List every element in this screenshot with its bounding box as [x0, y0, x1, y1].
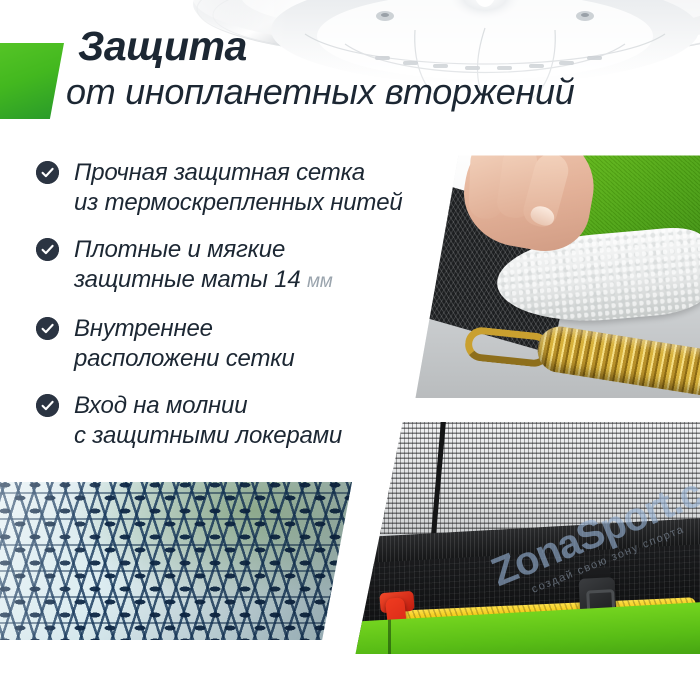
upper-mesh-panel: [352, 422, 700, 534]
accent-block: [0, 43, 64, 119]
zipper-entry-photo: [352, 422, 700, 654]
list-item: Прочная защитная сетка из термоскрепленн…: [36, 158, 436, 218]
list-item-label: Внутреннее расположени сетки: [74, 314, 436, 374]
page-title-line-2: от инопланетных вторжений: [66, 71, 678, 113]
check-circle-icon: [36, 394, 59, 417]
feature-list: Прочная защитная сетка из термоскрепленн…: [36, 158, 436, 451]
list-item-label: Плотные и мягкие защитные маты 14 мм: [74, 235, 436, 297]
page-title-line-1: Защита: [78, 24, 678, 68]
list-item: Плотные и мягкие защитные маты 14 мм: [36, 235, 436, 297]
photo-shading: [0, 482, 352, 640]
promo-banner: Защита от инопланетных вторжений Прочная…: [0, 0, 700, 700]
check-circle-icon: [36, 161, 59, 184]
list-item: Внутреннее расположени сетки: [36, 314, 436, 374]
list-item: Вход на молнии с защитными локерами: [36, 391, 436, 451]
list-item-label: Прочная защитная сетка из термоскрепленн…: [74, 158, 436, 218]
safety-net-photo: [0, 482, 352, 640]
safety-pad-photo: [405, 148, 700, 398]
check-circle-icon: [36, 238, 59, 261]
list-item-label-main: Плотные и мягкие защитные маты 14: [74, 236, 307, 293]
page-title: Защита от инопланетных вторжений: [78, 24, 678, 113]
list-item-label: Вход на молнии с защитными локерами: [74, 391, 436, 451]
check-circle-icon: [36, 317, 59, 340]
list-item-unit: мм: [307, 271, 333, 292]
